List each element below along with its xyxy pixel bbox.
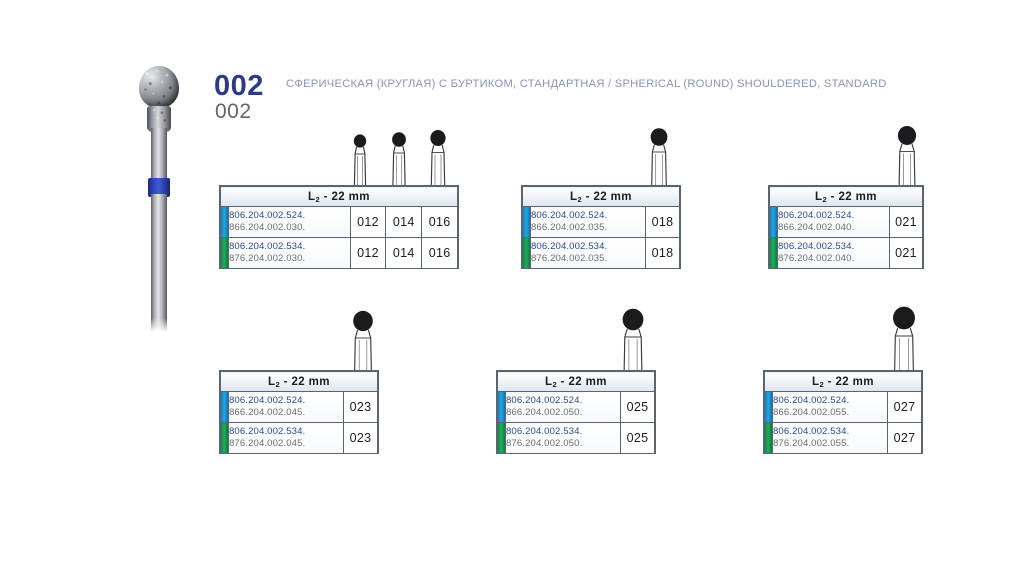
codes-cell: 806.204.002.524. 866.204.002.045. [229, 392, 344, 423]
codes-cell: 806.204.002.534. 876.204.002.040. [778, 238, 890, 269]
swatch-green [221, 238, 228, 268]
spec-table-3: L2 - 22 mm 806.204.002.524. 866.204.002.… [768, 185, 924, 269]
swatch-blue [221, 207, 228, 237]
codes-cell: 806.204.002.524. 866.204.002.055. [773, 392, 888, 423]
size-cell: 016 [422, 207, 458, 238]
color-swatch-cell [221, 207, 229, 238]
color-swatch-cell [221, 238, 229, 269]
code-top: 806.204.002.524. [778, 210, 889, 222]
color-swatch-cell [498, 392, 506, 423]
size-cell: 012 [350, 207, 386, 238]
codes-cell: 806.204.002.534. 876.204.002.055. [773, 423, 888, 454]
size-cell: 018 [646, 238, 680, 269]
size-cell: 025 [621, 423, 655, 454]
bur-shoulder-grain [147, 106, 171, 126]
length-header: L2 - 22 mm [498, 372, 655, 392]
code-bottom: 866.204.002.050. [506, 407, 620, 419]
size-cell: 018 [646, 207, 680, 238]
spec-table-1: L2 - 22 mm 806.204.002.524. 866.204.002.… [219, 185, 459, 269]
bur-drawing-012 [345, 132, 375, 188]
length-header: L2 - 22 mm [765, 372, 922, 392]
diamond-bur-photo [128, 66, 190, 336]
shape-code-primary: 002 [214, 72, 264, 101]
swatch-blue [765, 392, 772, 422]
size-cell: 014 [386, 207, 422, 238]
color-swatch-cell [221, 423, 229, 454]
bur-drawing-025 [612, 307, 654, 375]
bur-drawing-016 [421, 128, 455, 188]
length-header: L2 - 22 mm [523, 187, 680, 207]
spec-table-4: L2 - 22 mm 806.204.002.524. 866.204.002.… [219, 370, 379, 454]
code-bottom: 866.204.002.035. [531, 222, 645, 234]
table-row: 806.204.002.534. 876.204.002.035. 018 [523, 238, 680, 269]
color-swatch-cell [770, 238, 778, 269]
code-bottom: 876.204.002.055. [773, 438, 887, 450]
table-row: 806.204.002.524. 866.204.002.055. 027 [765, 392, 922, 423]
table-row: 806.204.002.534. 876.204.002.055. 027 [765, 423, 922, 454]
table-row: 806.204.002.534. 876.204.002.050. 025 [498, 423, 655, 454]
code-top: 806.204.002.524. [506, 395, 620, 407]
code-top: 806.204.002.534. [778, 241, 889, 253]
table-header-row: L2 - 22 mm [498, 372, 655, 392]
code-bottom: 876.204.002.050. [506, 438, 620, 450]
code-bottom: 866.204.002.055. [773, 407, 887, 419]
length-header: L2 - 22 mm [770, 187, 923, 207]
bur-drawing-018 [641, 126, 677, 188]
bur-drawing-014 [383, 130, 415, 188]
page-title: СФЕРИЧЕСКАЯ (КРУГЛАЯ) С БУРТИКОМ, СТАНДА… [286, 78, 887, 90]
table-header-row: L2 - 22 mm [770, 187, 923, 207]
swatch-blue [523, 207, 530, 237]
codes-cell: 806.204.002.524. 866.204.002.050. [506, 392, 621, 423]
size-cell: 012 [350, 238, 386, 269]
table-row: 806.204.002.524. 866.204.002.045. 023 [221, 392, 378, 423]
codes-cell: 806.204.002.534. 876.204.002.045. [229, 423, 344, 454]
codes-cell: 806.204.002.534. 876.204.002.030. [229, 238, 351, 269]
size-cell: 014 [386, 238, 422, 269]
codes-cell: 806.204.002.534. 876.204.002.050. [506, 423, 621, 454]
code-bottom: 876.204.002.040. [778, 253, 889, 265]
code-top: 806.204.002.534. [506, 426, 620, 438]
color-swatch-cell [523, 207, 531, 238]
bur-shank-fade [151, 318, 167, 336]
table-header-row: L2 - 22 mm [221, 187, 458, 207]
swatch-blue [221, 392, 228, 422]
spec-table-5: L2 - 22 mm 806.204.002.524. 866.204.002.… [496, 370, 656, 454]
codes-cell: 806.204.002.534. 876.204.002.035. [531, 238, 646, 269]
color-swatch-cell [770, 207, 778, 238]
code-top: 806.204.002.534. [229, 426, 343, 438]
color-swatch-cell [765, 392, 773, 423]
color-swatch-cell [523, 238, 531, 269]
page-header: 002 002 СФЕРИЧЕСКАЯ (КРУГЛАЯ) С БУРТИКОМ… [214, 72, 974, 132]
length-header: L2 - 22 mm [221, 187, 458, 207]
bur-neck [151, 128, 167, 182]
swatch-green [770, 238, 777, 268]
table-header-row: L2 - 22 mm [221, 372, 378, 392]
color-swatch-cell [765, 423, 773, 454]
code-top: 806.204.002.524. [229, 210, 350, 222]
swatch-green [523, 238, 530, 268]
code-bottom: 876.204.002.045. [229, 438, 343, 450]
size-cell: 025 [621, 392, 655, 423]
color-swatch-cell [498, 423, 506, 454]
size-cell: 016 [422, 238, 458, 269]
code-top: 806.204.002.524. [531, 210, 645, 222]
bur-head-diamond-grain [139, 66, 179, 108]
table-row: 806.204.002.534. 876.204.002.045. 023 [221, 423, 378, 454]
code-top: 806.204.002.534. [531, 241, 645, 253]
size-cell: 027 [888, 423, 922, 454]
code-top: 806.204.002.534. [229, 241, 350, 253]
code-bottom: 866.204.002.045. [229, 407, 343, 419]
table-header-row: L2 - 22 mm [523, 187, 680, 207]
bur-drawing-023 [343, 309, 383, 375]
table-row: 806.204.002.524. 866.204.002.050. 025 [498, 392, 655, 423]
color-swatch-cell [221, 392, 229, 423]
swatch-green [498, 423, 505, 453]
code-bottom: 866.204.002.030. [229, 222, 350, 234]
swatch-blue [498, 392, 505, 422]
table-row: 806.204.002.534. 876.204.002.040. 021 [770, 238, 923, 269]
code-top: 806.204.002.524. [229, 395, 343, 407]
spec-table-6: L2 - 22 mm 806.204.002.524. 866.204.002.… [763, 370, 923, 454]
code-top: 806.204.002.534. [773, 426, 887, 438]
codes-cell: 806.204.002.524. 866.204.002.040. [778, 207, 890, 238]
table-row: 806.204.002.524. 866.204.002.030. 012 01… [221, 207, 458, 238]
shape-code-secondary: 002 [215, 101, 252, 122]
swatch-green [765, 423, 772, 453]
swatch-blue [770, 207, 777, 237]
size-cell: 027 [888, 392, 922, 423]
codes-cell: 806.204.002.524. 866.204.002.035. [531, 207, 646, 238]
table-row: 806.204.002.524. 866.204.002.035. 018 [523, 207, 680, 238]
spec-table-2: L2 - 22 mm 806.204.002.524. 866.204.002.… [521, 185, 681, 269]
code-bottom: 876.204.002.030. [229, 253, 350, 265]
swatch-green [221, 423, 228, 453]
code-top: 806.204.002.524. [773, 395, 887, 407]
table-row: 806.204.002.524. 866.204.002.040. 021 [770, 207, 923, 238]
bur-shank [151, 194, 167, 332]
code-bottom: 876.204.002.035. [531, 253, 645, 265]
bur-drawing-021 [888, 124, 926, 188]
table-header-row: L2 - 22 mm [765, 372, 922, 392]
size-cell: 021 [890, 238, 923, 269]
size-cell: 023 [344, 423, 378, 454]
size-cell: 023 [344, 392, 378, 423]
codes-cell: 806.204.002.524. 866.204.002.030. [229, 207, 351, 238]
bur-drawing-027 [882, 305, 926, 375]
length-header: L2 - 22 mm [221, 372, 378, 392]
code-bottom: 866.204.002.040. [778, 222, 889, 234]
size-cell: 021 [890, 207, 923, 238]
table-row: 806.204.002.534. 876.204.002.030. 012 01… [221, 238, 458, 269]
